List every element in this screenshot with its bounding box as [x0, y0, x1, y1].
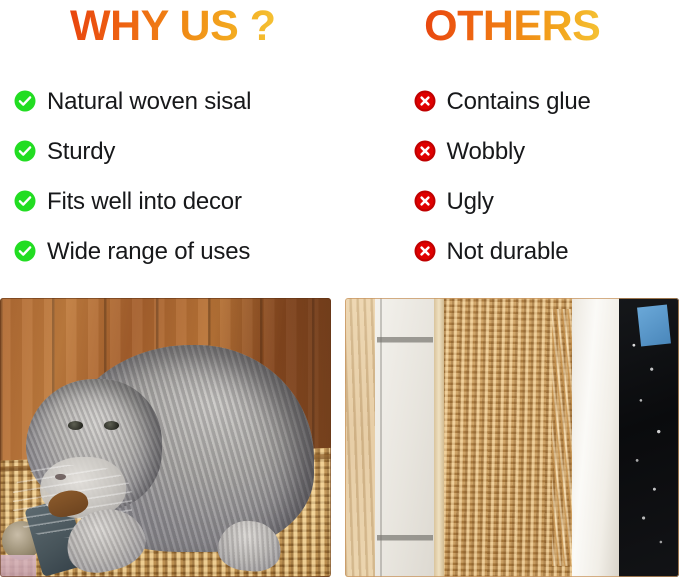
list-item: Wobbly [414, 126, 679, 176]
debris-specks [622, 326, 675, 566]
pink-object [0, 555, 36, 577]
list-item: Natural woven sisal [14, 76, 340, 126]
frayed-sisal-mat-image [345, 298, 679, 577]
blue-tape [637, 305, 671, 347]
lists-row: Natural woven sisal Sturdy [0, 76, 679, 292]
cons-title-cell: OTHERS [340, 0, 679, 62]
pros-list: Natural woven sisal Sturdy [0, 76, 340, 292]
list-item-label: Not durable [447, 238, 569, 265]
cat-eye [68, 421, 83, 430]
cons-list: Contains glue Wobbly [340, 76, 679, 292]
pros-title-cell: WHY US ? [0, 0, 340, 62]
list-item-label: Wide range of uses [47, 238, 250, 265]
list-item: Contains glue [414, 76, 679, 126]
list-item-label: Fits well into decor [47, 188, 242, 215]
pros-title: WHY US ? [70, 2, 275, 50]
list-item-label: Natural woven sisal [47, 88, 251, 115]
comparison-infographic: WHY US ? OTHERS Natural woven sisal [0, 0, 679, 577]
wire-frame [377, 298, 434, 577]
list-item-label: Contains glue [447, 88, 591, 115]
cons-photo [345, 298, 679, 577]
cat-eye [104, 421, 119, 430]
cat-on-sisal-mat-image [0, 298, 331, 577]
titles-row: WHY US ? OTHERS [0, 0, 679, 62]
check-circle-icon [14, 140, 36, 162]
check-circle-icon [14, 90, 36, 112]
list-item: Not durable [414, 226, 679, 276]
check-circle-icon [14, 190, 36, 212]
cross-circle-icon [414, 90, 436, 112]
check-circle-icon [14, 240, 36, 262]
list-item-label: Ugly [447, 188, 494, 215]
list-item: Sturdy [14, 126, 340, 176]
list-item-label: Wobbly [447, 138, 525, 165]
cross-circle-icon [414, 240, 436, 262]
cons-title: OTHERS [424, 2, 600, 50]
photos-row [0, 298, 679, 577]
list-item: Wide range of uses [14, 226, 340, 276]
light-wood-edge [345, 298, 375, 577]
list-item: Ugly [414, 176, 679, 226]
list-item: Fits well into decor [14, 176, 340, 226]
list-item-label: Sturdy [47, 138, 115, 165]
pros-photo [0, 298, 331, 577]
white-trim [572, 298, 619, 577]
cross-circle-icon [414, 140, 436, 162]
cross-circle-icon [414, 190, 436, 212]
